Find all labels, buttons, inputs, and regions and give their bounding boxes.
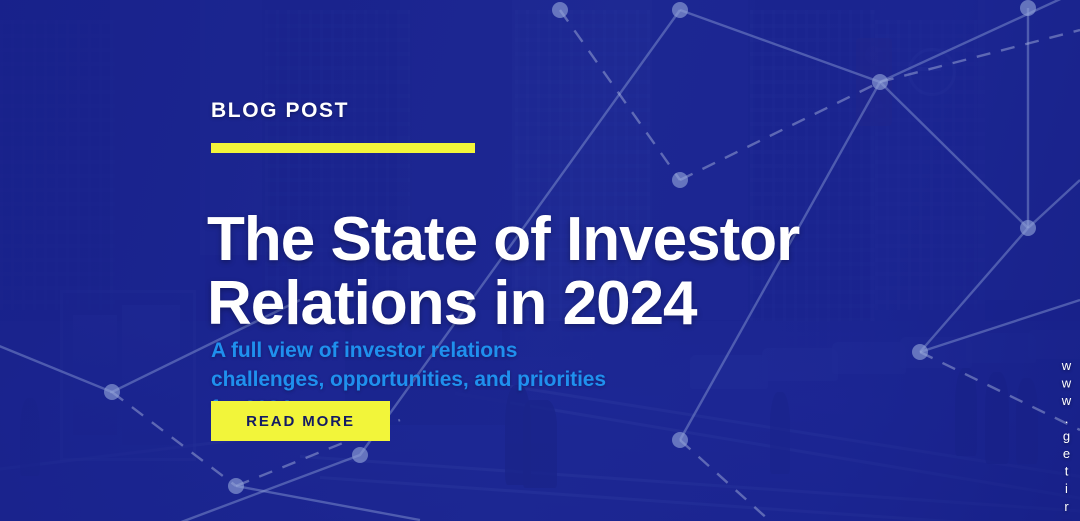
yellow-accent-bar bbox=[211, 143, 475, 153]
read-more-button[interactable]: READ MORE bbox=[211, 401, 390, 441]
blog-post-banner: BLOG POST The State of Investor Relation… bbox=[0, 0, 1080, 521]
website-url: www.getirwin.com bbox=[1059, 358, 1074, 521]
page-title: The State of Investor Relations in 2024 bbox=[207, 208, 847, 337]
eyebrow-label: BLOG POST bbox=[211, 100, 349, 121]
banner-content: BLOG POST The State of Investor Relation… bbox=[211, 0, 851, 521]
